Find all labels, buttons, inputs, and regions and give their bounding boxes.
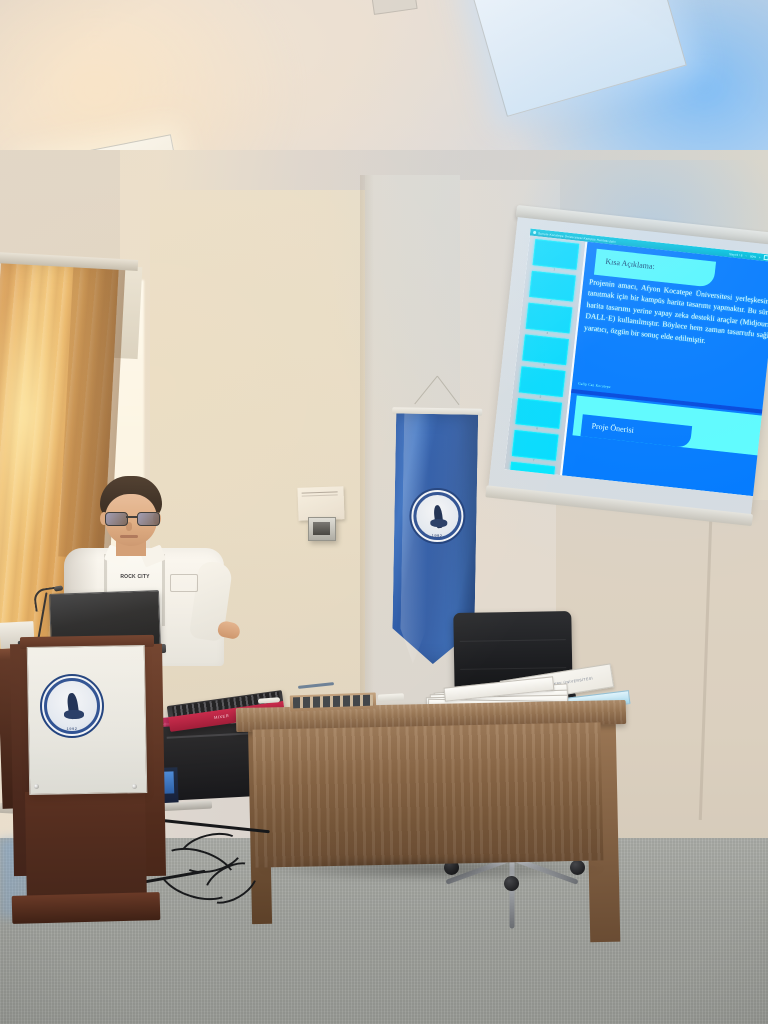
slide-thumbnail[interactable] — [526, 303, 573, 334]
zoom-in-icon[interactable]: + — [759, 255, 761, 259]
bracket-lens — [313, 522, 330, 535]
presentation-room-photo: Sunum Kocatepe Üniversitesi Kampüs Harit… — [0, 0, 768, 1024]
note-lines — [302, 491, 338, 493]
floor-cables — [150, 820, 450, 950]
eyeglasses-icon — [104, 512, 160, 524]
tshirt-logo-text: ROCK CITY — [116, 574, 154, 587]
chair-seam — [460, 667, 566, 670]
podium-screw — [132, 784, 137, 789]
podium: 1992 — [12, 636, 164, 936]
list-item[interactable]: 1 — [526, 238, 585, 274]
presenter-remote[interactable] — [378, 693, 404, 701]
normal-view-icon[interactable] — [764, 255, 768, 261]
slide-thumbnail-number: 2 — [550, 299, 552, 303]
glasses-bridge — [126, 516, 137, 518]
shirt-pocket — [170, 574, 198, 592]
wall-corner-shadow — [360, 175, 374, 715]
podium-screw — [34, 784, 39, 789]
projection-screen: Sunum Kocatepe Üniversitesi Kampüs Harit… — [476, 214, 768, 541]
emblem-year: 1992 — [42, 726, 102, 731]
bracket-paper-note — [297, 486, 344, 521]
next-slide-preview: Proje Önerisi — [572, 395, 768, 459]
badge-cells — [293, 695, 373, 709]
shirt-placket-right — [162, 554, 165, 626]
slide-thumbnail-number: 7 — [533, 458, 535, 462]
podium-base — [12, 892, 161, 924]
slide-thumbnail-number: 4 — [543, 363, 545, 367]
slide-stage: Kısa Açıklama: Projenin amacı, Afyon Koc… — [562, 242, 768, 497]
slide-counter: Slayt 5 / 8 — [729, 252, 743, 257]
list-item[interactable]: 6 — [509, 398, 568, 434]
slide-title-text: Kısa Açıklama: — [605, 257, 655, 271]
list-item[interactable]: 5 — [512, 366, 571, 402]
glasses-lens-right — [137, 512, 160, 526]
slide-thumbnail-number: 5 — [539, 394, 541, 398]
glasses-lens-left — [105, 512, 128, 526]
chair-seam — [460, 639, 566, 642]
powerpoint-window: Sunum Kocatepe Üniversitesi Kampüs Harit… — [504, 229, 768, 497]
cable — [150, 818, 270, 833]
slide-thumbnail[interactable] — [522, 335, 569, 366]
emblem-year: 1992 — [411, 532, 463, 538]
slide-thumbnail-number: 6 — [536, 426, 538, 430]
slide-thumbnail-number: 3 — [546, 331, 548, 335]
presenter-mouth — [120, 535, 138, 538]
list-item[interactable]: 4 — [516, 334, 575, 370]
list-item[interactable]: 2 — [523, 270, 582, 306]
white-pen[interactable] — [258, 697, 280, 704]
wall-bracket — [298, 487, 350, 547]
bracket-housing — [308, 517, 336, 541]
podium-lower-body — [25, 790, 147, 908]
slide-caption: Galip Can Kocatepe — [578, 382, 611, 390]
slide-thumbnail-number: 1 — [553, 267, 555, 271]
banner-cord-right — [437, 376, 459, 405]
next-slide-title: Proje Önerisi — [591, 421, 634, 435]
screen-canvas: Sunum Kocatepe Üniversitesi Kampüs Harit… — [488, 217, 768, 516]
slide-thumbnail[interactable] — [533, 239, 580, 270]
next-slide-tab: Proje Önerisi — [580, 414, 692, 448]
emblem-base — [64, 710, 84, 720]
app-icon — [533, 231, 536, 234]
university-emblem-icon: 1992 — [409, 488, 466, 545]
map-shape — [529, 473, 548, 489]
slide-thumbnail-active[interactable] — [519, 366, 566, 397]
zoom-level[interactable]: 80% — [750, 254, 756, 259]
slide-body-text: Projenin amacı, Afyon Kocatepe Üniversit… — [584, 276, 768, 357]
slide-thumbnail[interactable] — [529, 271, 576, 302]
university-emblem-icon: 1992 — [40, 674, 104, 738]
slide-thumbnail[interactable] — [515, 398, 562, 429]
slide-thumbnail[interactable] — [512, 430, 559, 461]
list-item[interactable]: 3 — [519, 302, 578, 338]
banner-cord-left — [414, 376, 437, 405]
zoom-out-icon[interactable]: − — [745, 253, 747, 257]
name-badge-tray[interactable] — [290, 693, 377, 712]
list-item[interactable]: 7 — [506, 429, 565, 465]
